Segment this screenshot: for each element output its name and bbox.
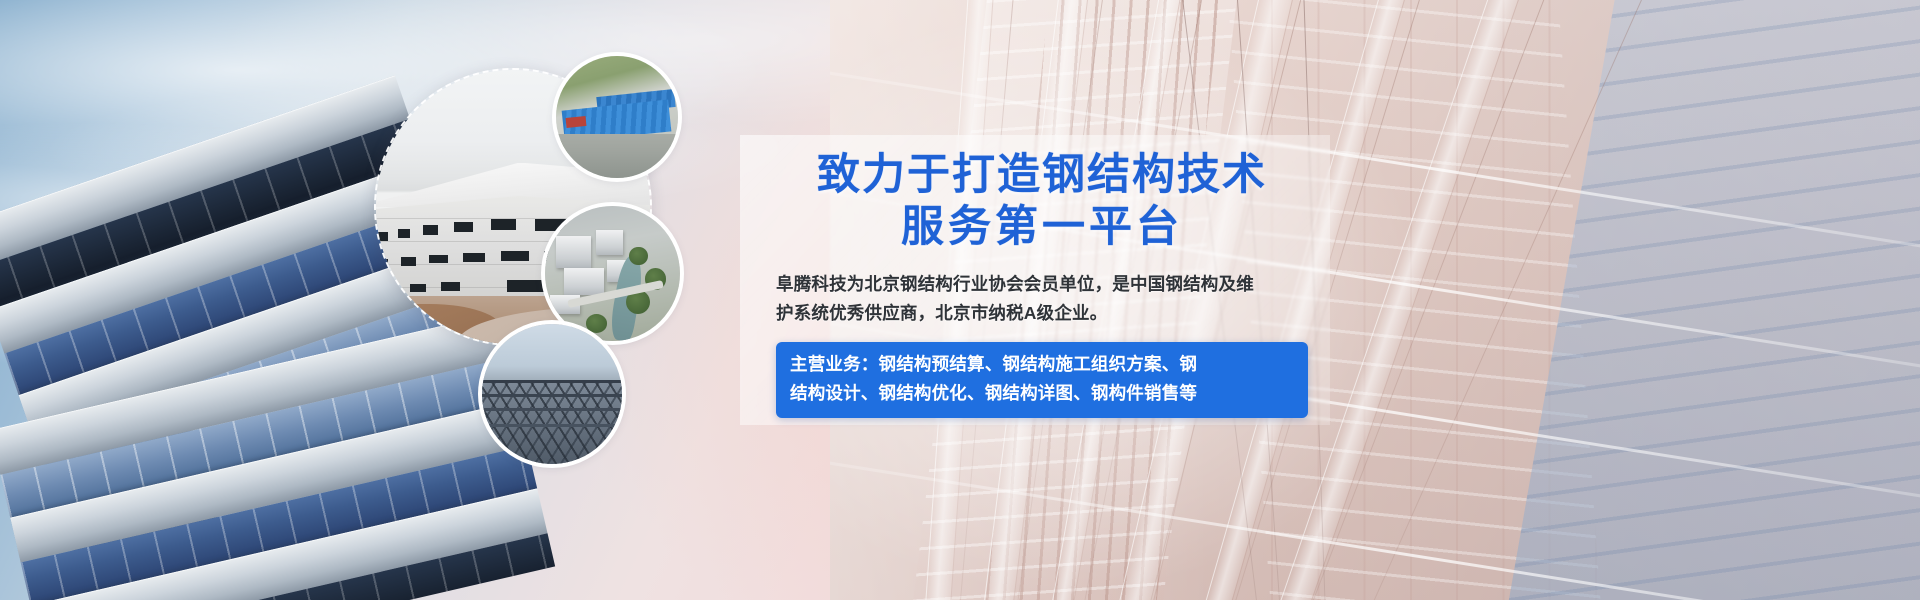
business-scope-line-2: 结构设计、钢结构优化、钢结构详图、钢构件销售等 <box>790 379 1294 408</box>
hero-banner: 致力于打造钢结构技术 服务第一平台 阜腾科技为北京钢结构行业协会会员单位，是中国… <box>0 0 1920 600</box>
business-scope-box: 主营业务：钢结构预结算、钢结构施工组织方案、钢 结构设计、钢结构优化、钢结构详图… <box>776 342 1308 418</box>
collage-photo-blue-roof-factory <box>556 56 678 178</box>
business-scope-line-1: 主营业务：钢结构预结算、钢结构施工组织方案、钢 <box>790 350 1294 379</box>
headline-line-1: 致力于打造钢结构技术 <box>770 150 1314 202</box>
text-panel-content: 致力于打造钢结构技术 服务第一平台 阜腾科技为北京钢结构行业协会会员单位，是中国… <box>762 150 1322 418</box>
banner-headline: 致力于打造钢结构技术 服务第一平台 <box>762 150 1322 254</box>
headline-line-2: 服务第一平台 <box>770 202 1314 254</box>
collage-photo-campus-river <box>545 206 680 341</box>
photo-collage <box>360 40 740 460</box>
description-line-1: 阜腾科技为北京钢结构行业协会会员单位，是中国钢结构及维 <box>776 270 1308 299</box>
banner-description: 阜腾科技为北京钢结构行业协会会员单位，是中国钢结构及维 护系统优秀供应商，北京市… <box>762 270 1322 328</box>
description-line-2: 护系统优秀供应商，北京市纳税A级企业。 <box>776 299 1308 328</box>
collage-photo-steel-truss <box>482 324 622 464</box>
